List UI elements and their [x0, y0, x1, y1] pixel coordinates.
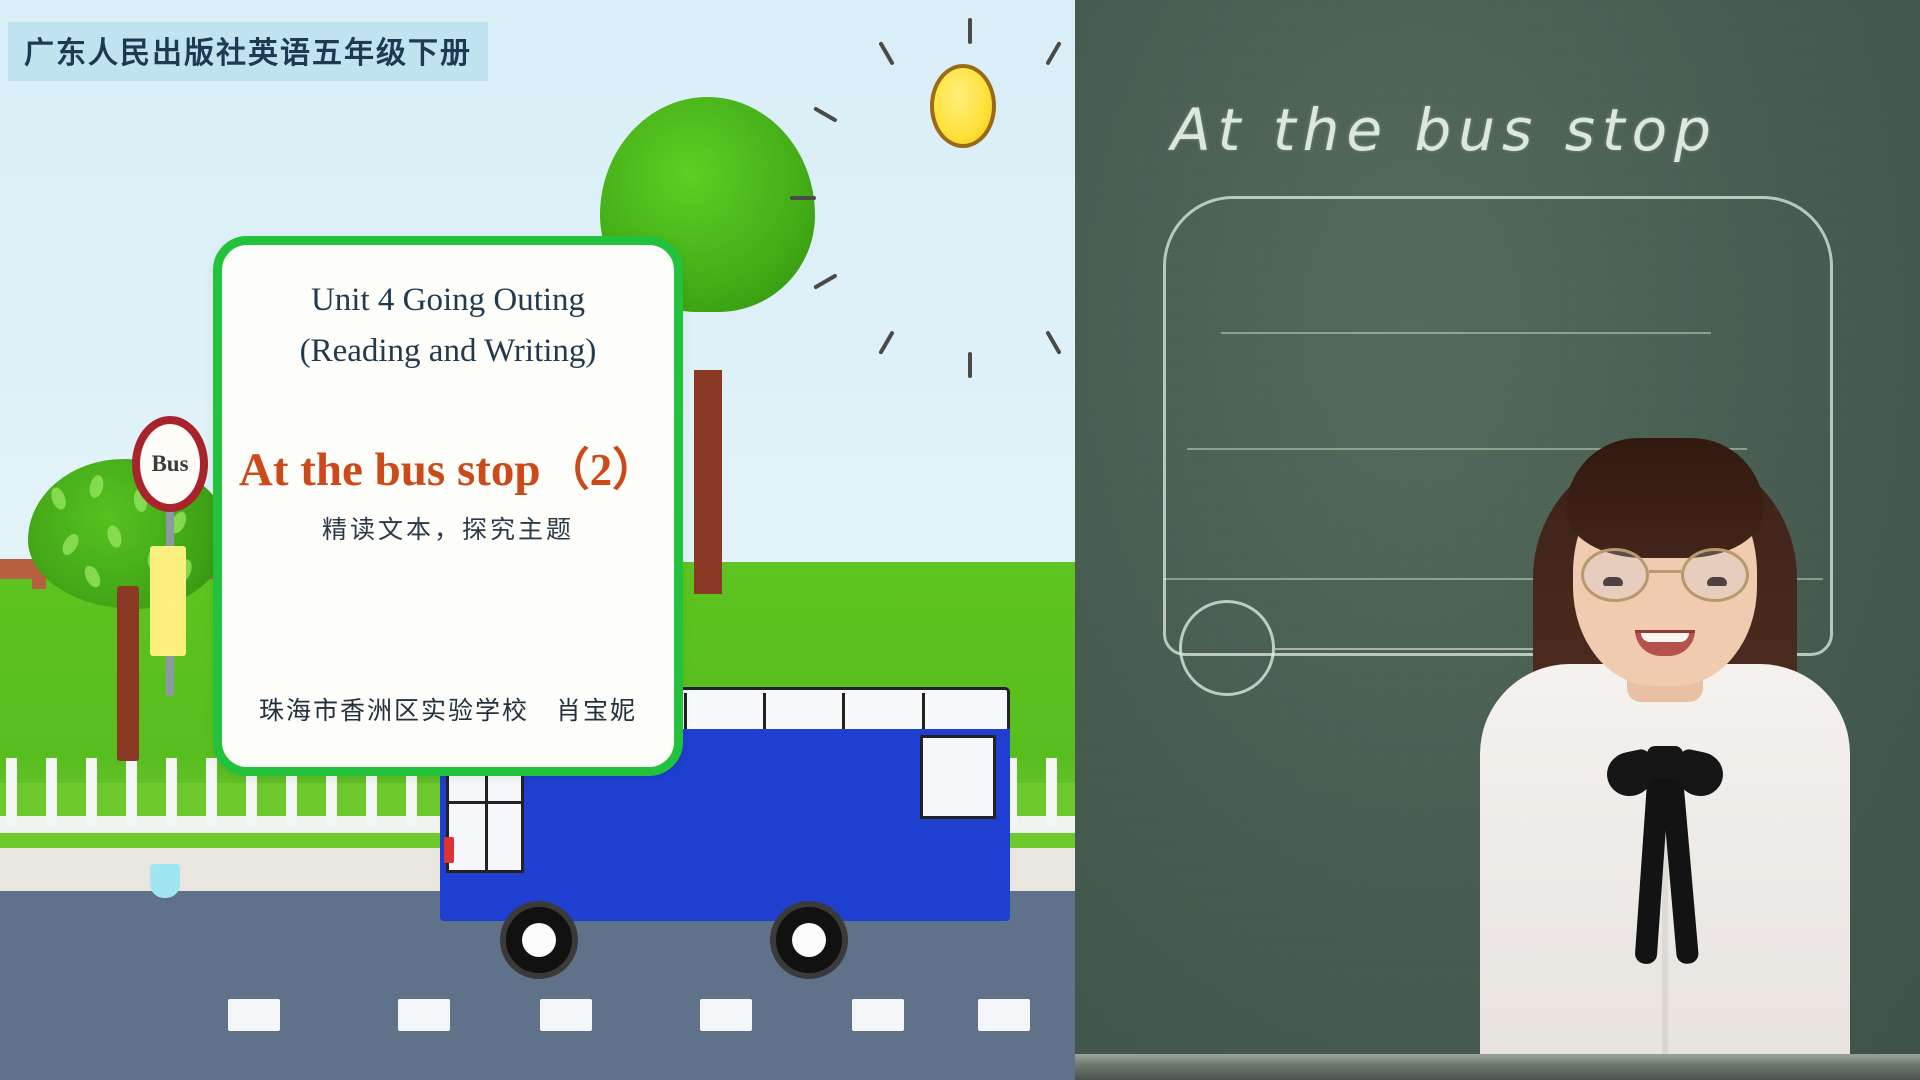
lamp-tip — [150, 864, 180, 898]
textbook-banner-label: 广东人民出版社英语五年级下册 — [24, 36, 472, 71]
lesson-title: At the bus stop （2） — [239, 433, 657, 498]
textbook-banner: 广东人民出版社英语五年级下册 — [8, 22, 488, 81]
bus-sign-plate: Bus — [132, 416, 208, 512]
skills-line: (Reading and Writing) — [300, 326, 597, 377]
lane-markings — [0, 999, 1075, 1031]
bus-stop-sign: Bus — [132, 416, 208, 696]
teacher-presenter — [1445, 354, 1885, 1054]
video-stage: Bus 广东人民出版社英语五年级下册 Un — [0, 0, 1920, 1080]
unit-line: Unit 4 Going Outing — [311, 275, 585, 326]
glasses-icon — [1581, 548, 1749, 602]
lesson-title-number: （2） — [545, 433, 658, 498]
slide-panel: Bus 广东人民出版社英语五年级下册 Un — [0, 0, 1075, 1080]
lesson-title-text: At the bus stop — [239, 443, 541, 497]
chalkboard-panel: At the bus stop — [1075, 0, 1920, 1080]
presenter-line: 珠海市香洲区实验学校 肖宝妮 — [222, 691, 674, 727]
ribbon-bow — [1607, 746, 1723, 976]
bus-sign-label: Bus — [151, 451, 188, 477]
title-card: Unit 4 Going Outing (Reading and Writing… — [213, 236, 683, 776]
lesson-subtitle: 精读文本，探究主题 — [322, 510, 574, 546]
chalk-ledge — [1075, 1054, 1920, 1080]
sun-icon — [898, 36, 1038, 176]
chalkboard-title: At the bus stop — [1171, 96, 1718, 164]
